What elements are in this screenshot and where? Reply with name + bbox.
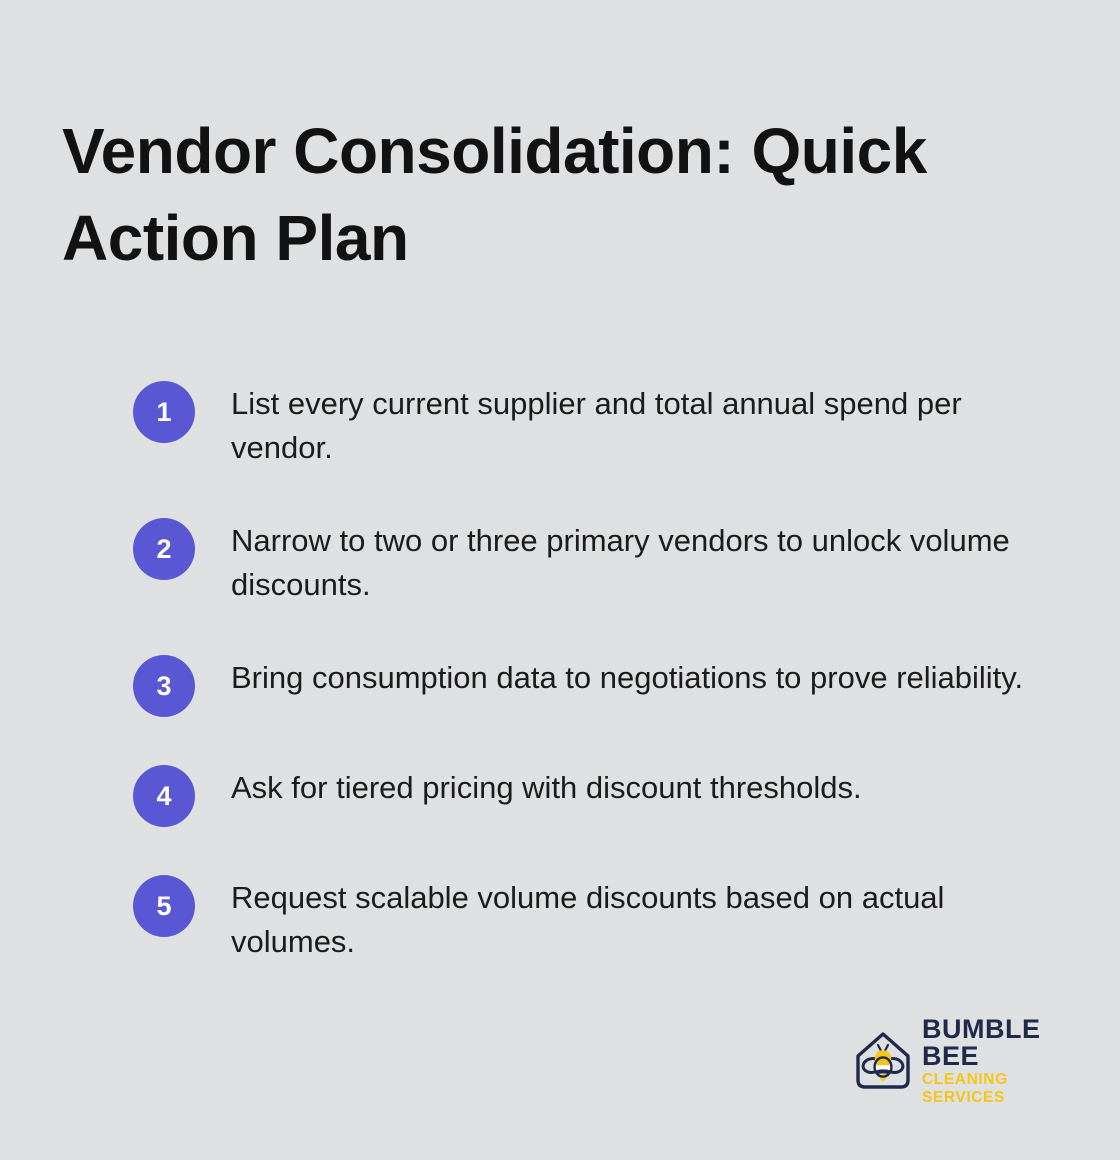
step-list: 1 List every current supplier and total …: [133, 379, 1053, 964]
page-title-block: Vendor Consolidation: Quick Action Plan: [62, 108, 1002, 282]
list-item: 2 Narrow to two or three primary vendors…: [133, 516, 1053, 607]
list-item: 5 Request scalable volume discounts base…: [133, 873, 1053, 964]
logo-tagline: CLEANING SERVICES: [922, 1071, 1064, 1107]
step-number-badge: 5: [133, 875, 195, 937]
step-number-badge: 3: [133, 655, 195, 717]
list-item: 3 Bring consumption data to negotiations…: [133, 653, 1053, 717]
page-title: Vendor Consolidation: Quick Action Plan: [62, 108, 1002, 282]
step-text: Request scalable volume discounts based …: [231, 873, 1041, 964]
step-number-badge: 1: [133, 381, 195, 443]
logo-brand-name: BUMBLE BEE: [922, 1016, 1064, 1070]
step-text: List every current supplier and total an…: [231, 379, 1041, 470]
step-number-badge: 4: [133, 765, 195, 827]
brand-logo: BUMBLE BEE CLEANING SERVICES: [852, 1028, 1064, 1094]
list-item: 1 List every current supplier and total …: [133, 379, 1053, 470]
step-text: Ask for tiered pricing with discount thr…: [231, 763, 862, 810]
bumble-bee-house-logo-icon: [852, 1030, 914, 1092]
list-item: 4 Ask for tiered pricing with discount t…: [133, 763, 1053, 827]
step-number-badge: 2: [133, 518, 195, 580]
step-text: Bring consumption data to negotiations t…: [231, 653, 1023, 700]
infographic-canvas: Vendor Consolidation: Quick Action Plan …: [0, 0, 1120, 1160]
logo-wordmark: BUMBLE BEE CLEANING SERVICES: [922, 1016, 1064, 1107]
step-text: Narrow to two or three primary vendors t…: [231, 516, 1041, 607]
